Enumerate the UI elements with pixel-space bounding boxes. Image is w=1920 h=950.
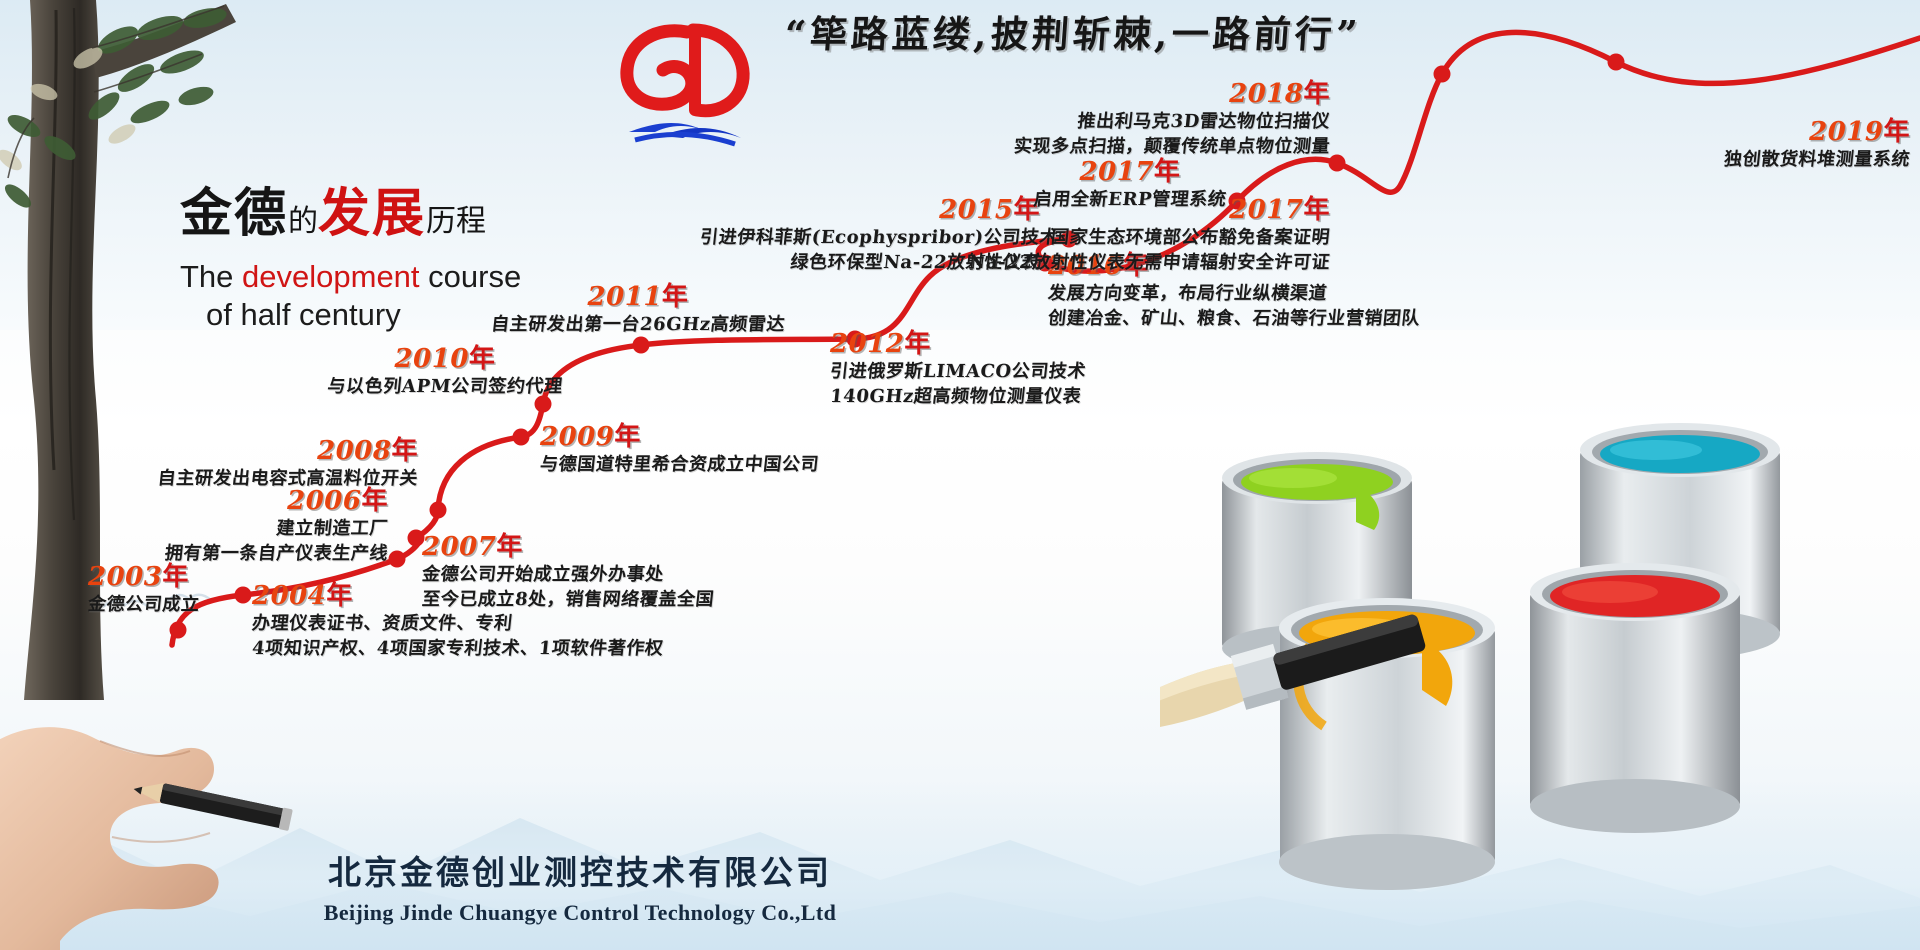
milestone-2008-4[interactable]: 2008年自主研发出电容式高温料位开关	[128, 437, 418, 492]
milestone-2007-3[interactable]: 2007年金德公司开始成立强外办事处至今已成立8处，销售网络覆盖全国	[422, 533, 714, 613]
milestone-year: 2017年	[1000, 158, 1260, 188]
milestone-description-line: 自主研发出第一台26GHz高频雷达	[477, 313, 800, 338]
milestone-description-line: 国家生态环境部公布豁免备案证明	[949, 226, 1332, 251]
milestone-year: 2011年	[478, 283, 798, 313]
milestone-year: 2008年	[128, 437, 418, 467]
milestone-description-line: 独创散货料堆测量系统	[1529, 148, 1912, 173]
milestone-description-line: 金德公司开始成立强外办事处	[421, 563, 716, 588]
milestone-2010-6[interactable]: 2010年与以色列APM公司签约代理	[300, 345, 590, 400]
headline-chinese: 金德的发展历程	[180, 185, 700, 242]
company-name-cn: 北京金德创业测控技术有限公司	[0, 846, 1160, 894]
milestone-description-line: 与以色列APM公司签约代理	[299, 375, 592, 400]
milestone-2012-8[interactable]: 2012年引进俄罗斯LIMACO公司技术140GHz超高频物位测量仪表	[830, 330, 1086, 410]
headline-en-development: development	[242, 259, 420, 294]
headline-en-the: The	[180, 259, 242, 294]
milestone-2018-13[interactable]: 2018年推出利马克3D雷达物位扫描仪实现多点扫描，颠覆传统单点物位测量	[1010, 80, 1330, 160]
milestone-2019-14[interactable]: 2019年独创散货料堆测量系统	[1530, 118, 1910, 173]
milestone-description-line: 建立制造工厂	[127, 517, 390, 542]
paint-cans	[1160, 390, 1920, 950]
company-name-en: Beijing Jinde Chuangye Control Technolog…	[0, 900, 1160, 926]
milestone-2017-12[interactable]: 2017年国家生态环境部公布豁免备案证明Na-22放射性仪表无需申请辐射安全许可…	[950, 196, 1330, 276]
milestone-2011-7[interactable]: 2011年自主研发出第一台26GHz高频雷达	[478, 283, 798, 338]
paint-can-red	[1530, 563, 1740, 833]
milestone-dot[interactable]	[633, 337, 650, 354]
milestone-year: 2012年	[830, 330, 1086, 360]
company-logo	[595, 18, 775, 153]
milestone-dot[interactable]	[389, 551, 406, 568]
milestone-description-line: 创建冶金、矿山、粮食、石油等行业营销团队	[1047, 307, 1422, 332]
milestone-description-line: 与德国道特里希合资成立中国公司	[539, 453, 821, 478]
motto-calligraphy: “筚路蓝缕,披荆斩棘,一路前行”	[783, 4, 1467, 56]
milestone-year: 2007年	[422, 533, 714, 563]
milestone-description-line: 办理仪表证书、资质文件、专利	[251, 612, 665, 637]
headline-development: 发展	[318, 183, 426, 244]
poster-canvas: “筚路蓝缕,披荆斩棘,一路前行” 金德的发展历程 The development…	[0, 0, 1920, 950]
milestone-description-line: 引进俄罗斯LIMACO公司技术	[829, 360, 1088, 385]
headline-brand: 金德	[180, 183, 288, 244]
milestone-dot[interactable]	[513, 429, 530, 446]
milestone-description-line: 自主研发出电容式高温料位开关	[127, 467, 420, 492]
milestone-year: 2010年	[300, 345, 590, 375]
footer-block: 北京金德创业测控技术有限公司 Beijing Jinde Chuangye Co…	[0, 846, 1160, 926]
headline-de: 的	[288, 204, 318, 239]
milestone-description-line: 4项知识产权、4项国家专利技术、1项软件著作权	[251, 637, 665, 662]
milestone-year: 2009年	[540, 423, 819, 453]
milestone-description-line: Na-22放射性仪表无需申请辐射安全许可证	[949, 251, 1332, 276]
milestone-description-line: 发展方向变革，布局行业纵横渠道	[1047, 282, 1422, 307]
milestone-description-line: 实现多点扫描，颠覆传统单点物位测量	[1009, 135, 1332, 160]
milestone-dot[interactable]	[430, 502, 447, 519]
milestone-description-line: 推出利马克3D雷达物位扫描仪	[1009, 110, 1332, 135]
milestone-year: 2018年	[1010, 80, 1330, 110]
milestone-description-line: 至今已成立8处，销售网络覆盖全国	[421, 588, 716, 613]
milestone-description-line: 140GHz超高频物位测量仪表	[829, 385, 1088, 410]
headline-course: 历程	[426, 204, 486, 239]
milestone-year: 2019年	[1530, 118, 1910, 148]
milestone-year: 2017年	[950, 196, 1330, 226]
milestone-2009-5[interactable]: 2009年与德国道特里希合资成立中国公司	[540, 423, 819, 478]
